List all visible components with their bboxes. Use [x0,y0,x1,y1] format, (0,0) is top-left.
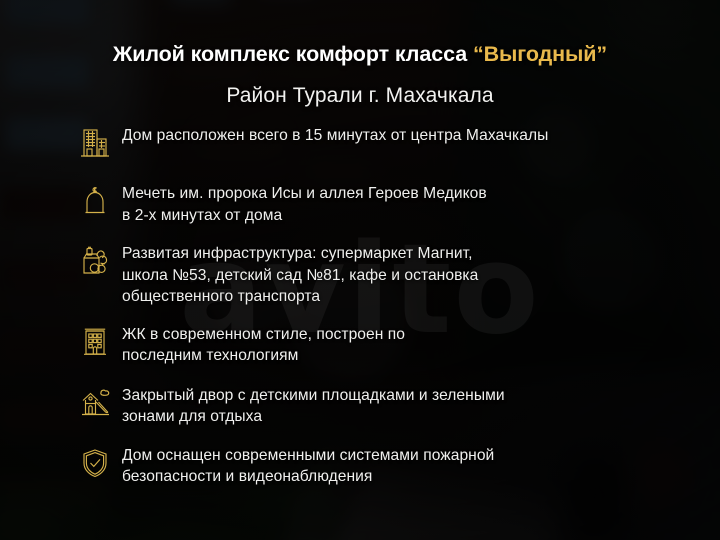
list-item: Дом расположен всего в 15 минутах от цен… [68,124,690,164]
promo-slide: avito Жилой комплекс комфорт класса “Выг… [0,0,720,540]
playground-icon [68,382,122,424]
feature-list: Дом расположен всего в 15 минутах от цен… [68,124,690,488]
list-item-label: Мечеть им. пророка Исы и аллея Героев Ме… [122,182,487,226]
mosque-icon [68,180,122,222]
list-item: Развитая инфраструктура: супермаркет Маг… [68,242,690,308]
list-item: Мечеть им. пророка Исы и аллея Героев Ме… [68,182,690,226]
title-main-text: Жилой комплекс комфорт класса [113,42,473,66]
list-item: Дом оснащен современными системами пожар… [68,444,690,488]
list-item-label: Дом расположен всего в 15 минутах от цен… [122,124,548,147]
grocery-bag-icon [68,240,122,282]
slide-content: Жилой комплекс комфорт класса “Выгодный”… [0,0,720,540]
list-item-label: Дом оснащен современными системами пожар… [122,444,494,488]
title-accent-text: “Выгодный” [473,42,607,66]
page-title: Жилой комплекс комфорт класса “Выгодный” [0,42,720,67]
shield-check-icon [68,442,122,484]
building-complex-icon [68,122,122,164]
list-item-label: ЖК в современном стиле, построен по посл… [122,323,405,367]
list-item-label: Развитая инфраструктура: супермаркет Маг… [122,242,478,308]
list-item: ЖК в современном стиле, построен по посл… [68,323,690,367]
list-item: Закрытый двор с детскими площадками и зе… [68,384,690,428]
list-item-label: Закрытый двор с детскими площадками и зе… [122,384,505,428]
page-subtitle: Район Турали г. Махачкала [0,84,720,108]
apartment-building-icon [68,321,122,363]
